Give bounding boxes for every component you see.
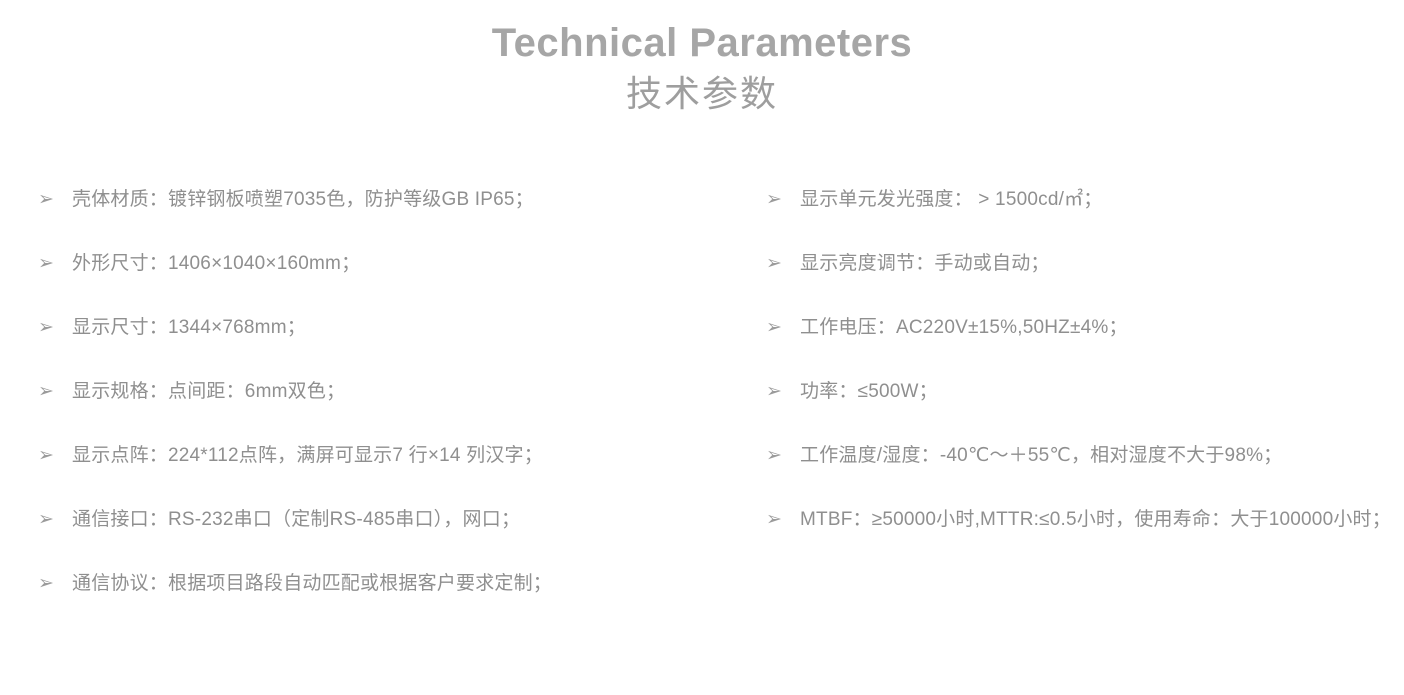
spec-item-dot-matrix: ➢ 显示点阵：224*112点阵，满屏可显示7 行×14 列汉字；	[38, 442, 738, 506]
spec-text: 通信接口：RS-232串口（定制RS-485串口），网口；	[72, 506, 738, 534]
page-title-chinese: 技术参数	[0, 70, 1404, 118]
arrow-bullet-icon: ➢	[766, 506, 788, 534]
page-title-english: Technical Parameters	[0, 18, 1404, 68]
spec-item-mtbf-mttr: ➢ MTBF：≥50000小时,MTTR:≤0.5小时，使用寿命：大于10000…	[766, 506, 1396, 570]
page-header: Technical Parameters 技术参数	[0, 18, 1404, 118]
arrow-bullet-icon: ➢	[38, 570, 60, 598]
technical-parameters-page: Technical Parameters 技术参数 ➢ 壳体材质：镀锌钢板喷塑7…	[0, 0, 1404, 695]
spec-text: 显示单元发光强度： > 1500cd/㎡；	[800, 186, 1396, 214]
specs-column-right: ➢ 显示单元发光强度： > 1500cd/㎡； ➢ 显示亮度调节：手动或自动； …	[766, 186, 1396, 570]
arrow-bullet-icon: ➢	[38, 314, 60, 342]
spec-item-communication-interface: ➢ 通信接口：RS-232串口（定制RS-485串口），网口；	[38, 506, 738, 570]
arrow-bullet-icon: ➢	[38, 186, 60, 214]
arrow-bullet-icon: ➢	[38, 378, 60, 406]
spec-item-brightness-adjustment: ➢ 显示亮度调节：手动或自动；	[766, 250, 1396, 314]
spec-text: 工作电压：AC220V±15%,50HZ±4%；	[800, 314, 1396, 342]
arrow-bullet-icon: ➢	[766, 442, 788, 470]
arrow-bullet-icon: ➢	[38, 442, 60, 470]
spec-text: 显示亮度调节：手动或自动；	[800, 250, 1396, 278]
spec-item-housing-material: ➢ 壳体材质：镀锌钢板喷塑7035色，防护等级GB IP65；	[38, 186, 738, 250]
spec-text: 壳体材质：镀锌钢板喷塑7035色，防护等级GB IP65；	[72, 186, 738, 214]
specs-column-left: ➢ 壳体材质：镀锌钢板喷塑7035色，防护等级GB IP65； ➢ 外形尺寸：1…	[38, 186, 738, 634]
spec-item-temperature-humidity: ➢ 工作温度/湿度：-40℃～＋55℃，相对湿度不大于98%；	[766, 442, 1396, 506]
spec-text: 外形尺寸：1406×1040×160mm；	[72, 250, 738, 278]
arrow-bullet-icon: ➢	[766, 378, 788, 406]
spec-item-outer-dimensions: ➢ 外形尺寸：1406×1040×160mm；	[38, 250, 738, 314]
spec-text: 显示点阵：224*112点阵，满屏可显示7 行×14 列汉字；	[72, 442, 738, 470]
specs-columns: ➢ 壳体材质：镀锌钢板喷塑7035色，防护等级GB IP65； ➢ 外形尺寸：1…	[0, 186, 1404, 646]
spec-item-working-voltage: ➢ 工作电压：AC220V±15%,50HZ±4%；	[766, 314, 1396, 378]
spec-text: 工作温度/湿度：-40℃～＋55℃，相对湿度不大于98%；	[800, 442, 1396, 470]
spec-text: 显示尺寸：1344×768mm；	[72, 314, 738, 342]
arrow-bullet-icon: ➢	[38, 250, 60, 278]
arrow-bullet-icon: ➢	[38, 506, 60, 534]
spec-item-display-spec: ➢ 显示规格：点间距：6mm双色；	[38, 378, 738, 442]
spec-text: 显示规格：点间距：6mm双色；	[72, 378, 738, 406]
arrow-bullet-icon: ➢	[766, 186, 788, 214]
spec-item-display-size: ➢ 显示尺寸：1344×768mm；	[38, 314, 738, 378]
arrow-bullet-icon: ➢	[766, 250, 788, 278]
spec-text: 通信协议：根据项目路段自动匹配或根据客户要求定制；	[72, 570, 738, 598]
spec-text: MTBF：≥50000小时,MTTR:≤0.5小时，使用寿命：大于100000小…	[800, 506, 1396, 534]
spec-item-power: ➢ 功率：≤500W；	[766, 378, 1396, 442]
spec-text: 功率：≤500W；	[800, 378, 1396, 406]
spec-item-luminous-intensity: ➢ 显示单元发光强度： > 1500cd/㎡；	[766, 186, 1396, 250]
arrow-bullet-icon: ➢	[766, 314, 788, 342]
spec-item-communication-protocol: ➢ 通信协议：根据项目路段自动匹配或根据客户要求定制；	[38, 570, 738, 634]
